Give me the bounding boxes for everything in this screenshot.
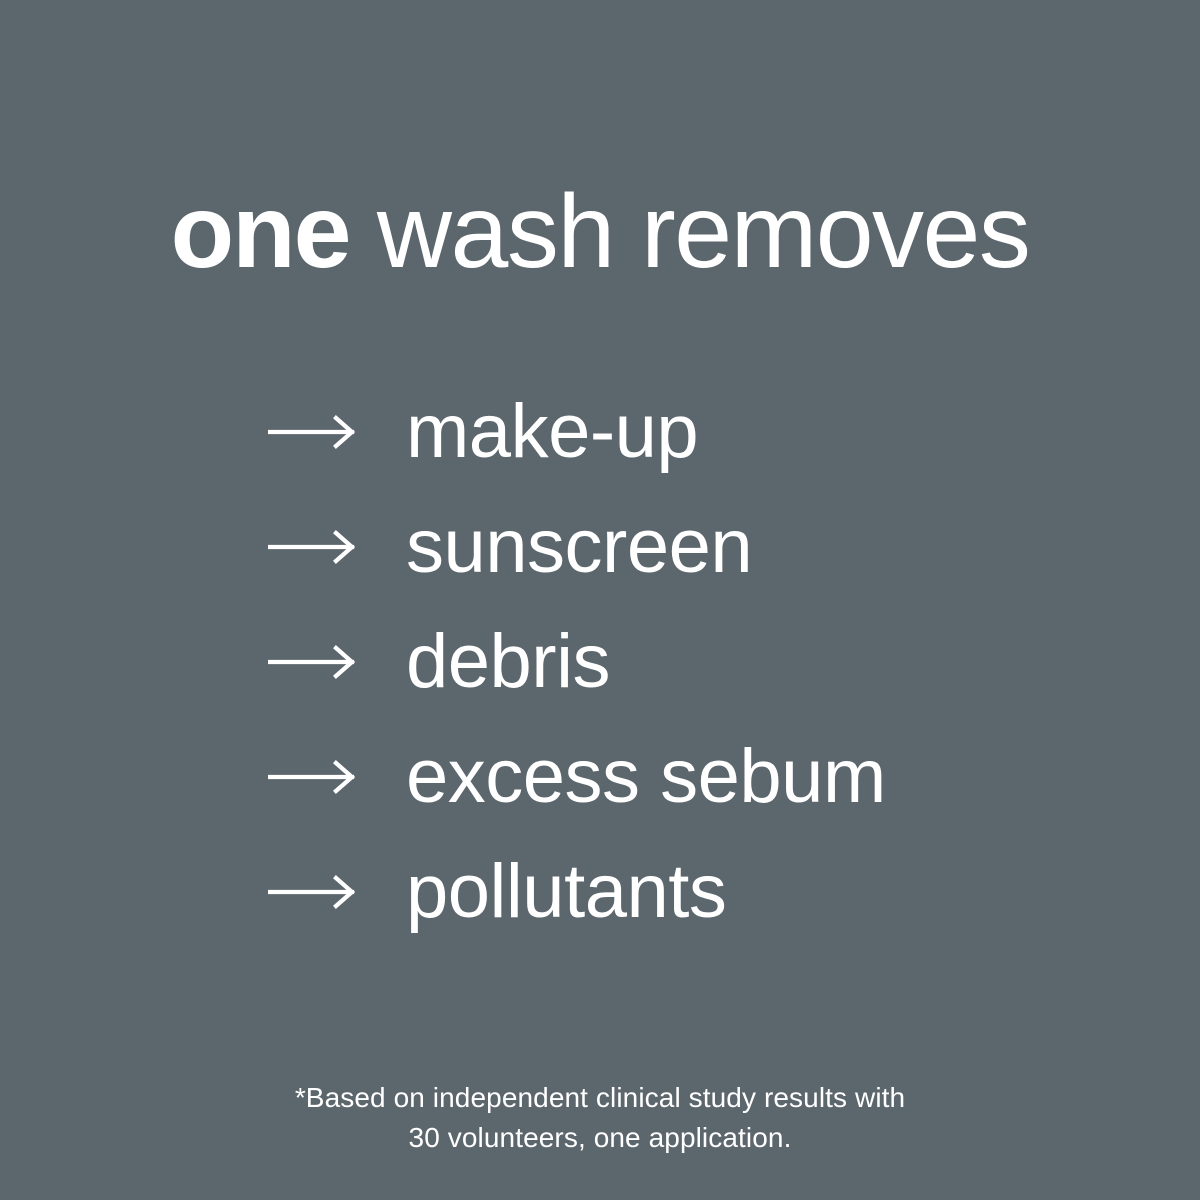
list-item: sunscreen [268,489,1128,604]
benefit-label: sunscreen [406,509,752,585]
benefit-label: make-up [406,394,698,470]
benefit-label: pollutants [406,854,726,930]
list-item: debris [268,604,1128,719]
arrow-right-icon [268,642,368,682]
disclaimer-text: *Based on independent clinical study res… [0,1078,1200,1158]
headline-emphasis: one [171,174,350,290]
arrow-right-icon [268,872,368,912]
list-item: make-up [268,374,1128,489]
list-item: pollutants [268,834,1128,949]
arrow-right-icon [268,527,368,567]
promo-graphic: one wash removes make-up sunscreen [0,0,1200,1200]
page-title: one wash removes [0,178,1200,287]
arrow-right-icon [268,412,368,452]
disclaimer-line-1: *Based on independent clinical study res… [0,1078,1200,1118]
benefits-list: make-up sunscreen debris [268,374,1128,949]
arrow-right-icon [268,757,368,797]
list-item: excess sebum [268,719,1128,834]
benefit-label: excess sebum [406,739,886,815]
disclaimer-line-2: 30 volunteers, one application. [0,1118,1200,1158]
benefit-label: debris [406,624,610,700]
headline-rest: wash removes [350,174,1030,290]
